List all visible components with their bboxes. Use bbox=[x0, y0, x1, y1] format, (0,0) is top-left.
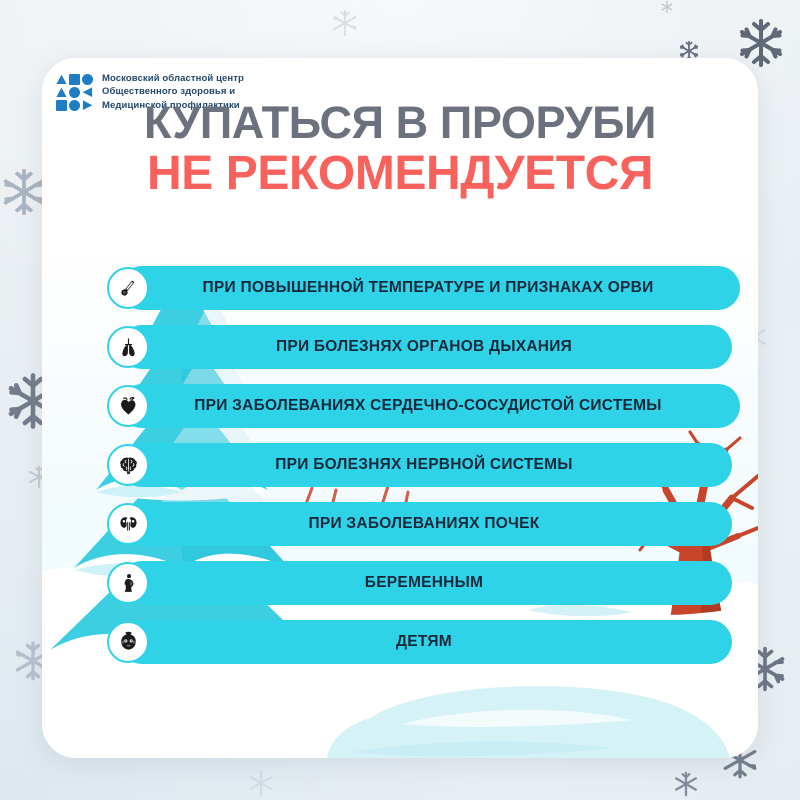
thermometer-icon bbox=[107, 267, 149, 309]
list-item[interactable]: ДЕТЯМ bbox=[42, 620, 758, 664]
list-item[interactable]: ПРИ ПОВЫШЕННОЙ ТЕМПЕРАТУРЕ И ПРИЗНАКАХ О… bbox=[42, 266, 758, 310]
title-line-1: КУПАТЬСЯ В ПРОРУБИ bbox=[42, 100, 758, 147]
snowflake-icon bbox=[330, 8, 360, 38]
list-item-label: ПРИ БОЛЕЗНЯХ ОРГАНОВ ДЫХАНИЯ bbox=[276, 338, 572, 356]
pregnant-woman-icon bbox=[107, 562, 149, 604]
list-item[interactable]: БЕРЕМЕННЫМ bbox=[42, 561, 758, 605]
list-item[interactable]: ПРИ ЗАБОЛЕВАНИЯХ ПОЧЕК bbox=[42, 502, 758, 546]
snowflake-icon bbox=[672, 770, 700, 798]
list-item-pill[interactable]: ПРИ БОЛЕЗНЯХ НЕРВНОЙ СИСТЕМЫ bbox=[120, 443, 732, 487]
snowflake-icon bbox=[660, 0, 674, 14]
list-item-pill[interactable]: ПРИ ЗАБОЛЕВАНИЯХ СЕРДЕЧНО-СОСУДИСТОЙ СИС… bbox=[120, 384, 740, 428]
logo-shape-square bbox=[69, 74, 80, 85]
list-item-label: ПРИ ЗАБОЛЕВАНИЯХ СЕРДЕЧНО-СОСУДИСТОЙ СИС… bbox=[194, 397, 662, 415]
snowflake-icon bbox=[0, 168, 48, 216]
list-item-pill[interactable]: ДЕТЯМ bbox=[120, 620, 732, 664]
logo-shape-triangle bbox=[56, 87, 67, 98]
list-item[interactable]: ПРИ ЗАБОЛЕВАНИЯХ СЕРДЕЧНО-СОСУДИСТОЙ СИС… bbox=[42, 384, 758, 428]
logo-shape-circle bbox=[82, 74, 93, 85]
contraindication-list: ПРИ ПОВЫШЕННОЙ ТЕМПЕРАТУРЕ И ПРИЗНАКАХ О… bbox=[42, 266, 758, 679]
poster-canvas: Московский областной центр Общественного… bbox=[0, 0, 800, 800]
list-item[interactable]: ПРИ БОЛЕЗНЯХ ОРГАНОВ ДЫХАНИЯ bbox=[42, 325, 758, 369]
list-item-pill[interactable]: ПРИ БОЛЕЗНЯХ ОРГАНОВ ДЫХАНИЯ bbox=[120, 325, 732, 369]
list-item-label: ПРИ ЗАБОЛЕВАНИЯХ ПОЧЕК bbox=[309, 515, 540, 533]
list-item-label: ПРИ ПОВЫШЕННОЙ ТЕМПЕРАТУРЕ И ПРИЗНАКАХ О… bbox=[203, 279, 654, 297]
logo-shape-triangle bbox=[56, 74, 67, 85]
list-item-pill[interactable]: ПРИ ПОВЫШЕННОЙ ТЕМПЕРАТУРЕ И ПРИЗНАКАХ О… bbox=[120, 266, 740, 310]
heart-icon bbox=[107, 385, 149, 427]
snowflake-icon bbox=[246, 768, 276, 798]
ice-pond bbox=[312, 678, 752, 758]
baby-icon bbox=[107, 621, 149, 663]
logo-shape-circle bbox=[69, 87, 80, 98]
list-item-pill[interactable]: ПРИ ЗАБОЛЕВАНИЯХ ПОЧЕК bbox=[120, 502, 732, 546]
list-item-label: БЕРЕМЕННЫМ bbox=[365, 574, 483, 592]
list-item[interactable]: ПРИ БОЛЕЗНЯХ НЕРВНОЙ СИСТЕМЫ bbox=[42, 443, 758, 487]
list-item-label: ПРИ БОЛЕЗНЯХ НЕРВНОЙ СИСТЕМЫ bbox=[275, 456, 572, 474]
lungs-icon bbox=[107, 326, 149, 368]
list-item-label: ДЕТЯМ bbox=[396, 633, 452, 651]
kidneys-icon bbox=[107, 503, 149, 545]
title-line-2: НЕ РЕКОМЕНДУЕТСЯ bbox=[42, 149, 758, 199]
poster-title-block: КУПАТЬСЯ В ПРОРУБИ НЕ РЕКОМЕНДУЕТСЯ bbox=[42, 100, 758, 199]
list-item-pill[interactable]: БЕРЕМЕННЫМ bbox=[120, 561, 732, 605]
brain-icon bbox=[107, 444, 149, 486]
logo-shape-triangle-left bbox=[82, 87, 93, 98]
content-card: Московский областной центр Общественного… bbox=[42, 58, 758, 758]
